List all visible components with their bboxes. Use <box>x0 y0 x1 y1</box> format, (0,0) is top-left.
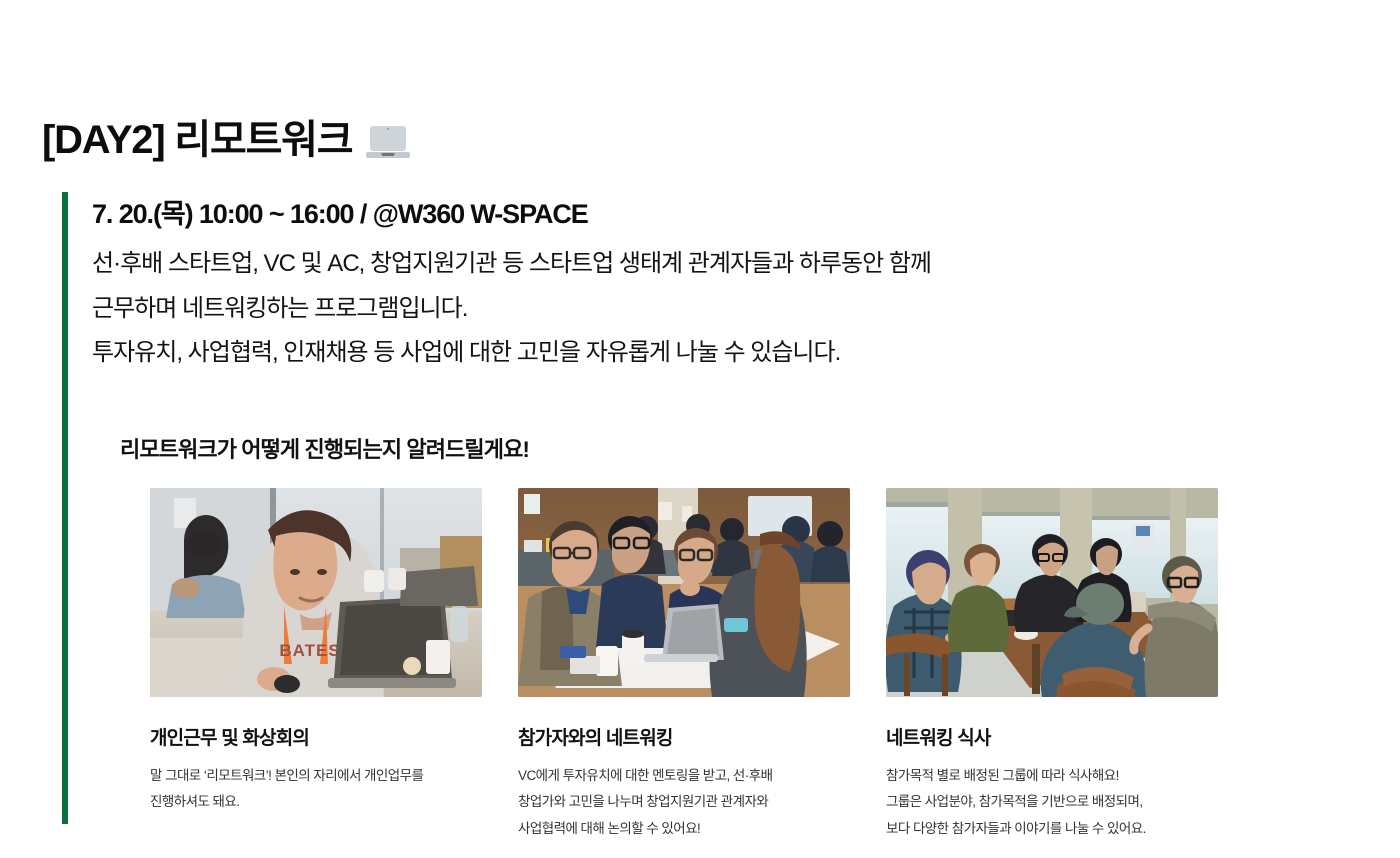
section-subheading: 리모트워크가 어떻게 진행되는지 알려드릴게요! <box>120 432 529 464</box>
card-description: VC에게 투자유치에 대한 멘토링을 받고, 선·후배 창업가와 고민을 나누며… <box>518 763 850 842</box>
schedule-headline: 7. 20.(목) 10:00 ~ 16:00 / @W360 W-SPACE <box>92 196 1242 232</box>
page-title: [DAY2] 리모트워크 <box>42 118 410 162</box>
intro-line-1: 선·후배 스타트업, VC 및 AC, 창업지원기관 등 스타트업 생태계 관계… <box>92 242 1242 286</box>
list-item: 네트워킹 식사 참가목적 별로 배정된 그룹에 따라 식사해요! 그룹은 사업분… <box>886 488 1218 842</box>
card-desc-line: 보다 다양한 참가자들과 이야기를 나눌 수 있어요. <box>886 816 1218 842</box>
card-list: BATES 개인근무 및 화상회의 <box>150 488 1230 842</box>
card-desc-line: 그룹은 사업분야, 참가목적을 기반으로 배정되며, <box>886 789 1218 815</box>
card-desc-line: 말 그대로 ‘리모트워크’! 본인의 자리에서 개인업무를 <box>150 763 482 789</box>
intro-paragraph: 선·후배 스타트업, VC 및 AC, 창업지원기관 등 스타트업 생태계 관계… <box>92 242 1242 375</box>
card-desc-line: VC에게 투자유치에 대한 멘토링을 받고, 선·후배 <box>518 763 850 789</box>
intro-line-3: 투자유치, 사업협력, 인재채용 등 사업에 대한 고민을 자유롭게 나눌 수 … <box>92 331 1242 375</box>
intro-line-2: 근무하며 네트워킹하는 프로그램입니다. <box>92 287 1242 331</box>
laptop-icon <box>366 126 410 160</box>
card-desc-line: 창업가와 고민을 나누며 창업지원기관 관계자와 <box>518 789 850 815</box>
card-description: 참가목적 별로 배정된 그룹에 따라 식사해요! 그룹은 사업분야, 참가목적을… <box>886 763 1218 842</box>
svg-text:BATES: BATES <box>279 641 340 660</box>
list-item: 참가자와의 네트워킹 VC에게 투자유치에 대한 멘토링을 받고, 선·후배 창… <box>518 488 850 842</box>
slide-canvas: [DAY2] 리모트워크 7. 20.(목) 10:00 ~ 16:00 / @… <box>0 0 1400 858</box>
card-desc-line: 참가목적 별로 배정된 그룹에 따라 식사해요! <box>886 763 1218 789</box>
list-item: BATES 개인근무 및 화상회의 <box>150 488 482 842</box>
page-title-text: [DAY2] 리모트워크 <box>42 118 352 162</box>
intro-block: 7. 20.(목) 10:00 ~ 16:00 / @W360 W-SPACE … <box>92 196 1242 376</box>
card-photo-individual-work: BATES <box>150 488 482 697</box>
card-photo-networking-meal <box>886 488 1218 697</box>
card-title: 개인근무 및 화상회의 <box>150 723 482 750</box>
card-desc-line: 사업협력에 대해 논의할 수 있어요! <box>518 816 850 842</box>
card-title: 참가자와의 네트워킹 <box>518 723 850 750</box>
card-title: 네트워킹 식사 <box>886 723 1218 750</box>
card-description: 말 그대로 ‘리모트워크’! 본인의 자리에서 개인업무를 진행하셔도 돼요. <box>150 763 482 816</box>
card-photo-networking <box>518 488 850 697</box>
accent-rule <box>62 192 68 824</box>
card-desc-line: 진행하셔도 돼요. <box>150 789 482 815</box>
